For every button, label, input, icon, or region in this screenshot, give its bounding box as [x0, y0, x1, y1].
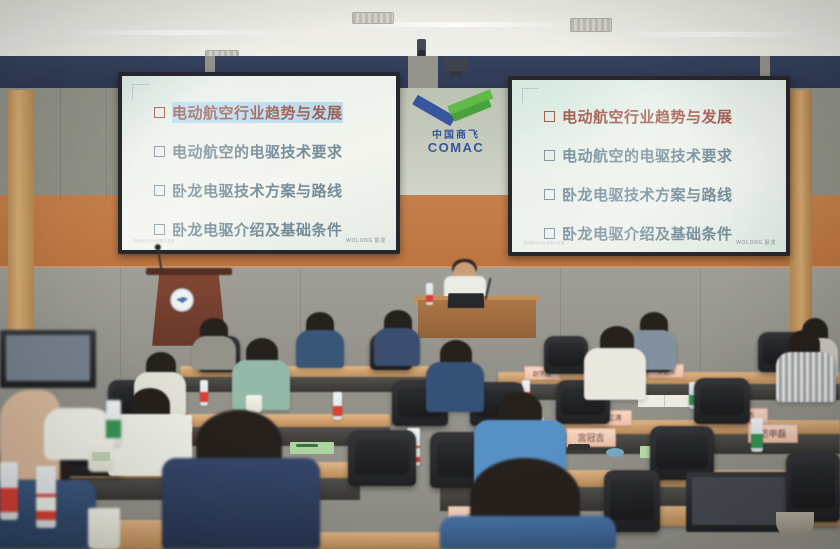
- slide-bullet-item: 电动航空行业趋势与发展: [544, 106, 786, 127]
- slide-bullet-item: 电动航空的电驱技术要求: [154, 141, 396, 162]
- ceiling-light-strip: [60, 30, 290, 35]
- water-bottle: [751, 418, 763, 452]
- slide-bullet-text: 卧龙电驱介绍及基础条件: [562, 223, 733, 244]
- slide-bullet-text: 卧龙电驱技术方案与路线: [562, 184, 733, 205]
- attendee: [192, 336, 236, 370]
- chair: [348, 430, 416, 486]
- screenshot-root: 中国商飞 COMAC 电动航空行业趋势与发展 电动航空的电驱技术要求 卧龙电驱技…: [0, 0, 840, 549]
- projection-screen-left: 电动航空行业趋势与发展 电动航空的电驱技术要求 卧龙电驱技术方案与路线 卧龙电驱…: [118, 72, 400, 254]
- checkbox-icon: [544, 111, 555, 122]
- slide-brand-footer: WOLONG 卧龙: [736, 239, 776, 246]
- comac-logo: 中国商飞 COMAC: [410, 90, 502, 162]
- attendee: [776, 352, 836, 402]
- laptop: [0, 330, 96, 388]
- checkbox-icon: [544, 150, 555, 161]
- attendee: [296, 330, 344, 368]
- mouse: [606, 448, 624, 457]
- wall-panel-seam: [120, 268, 121, 378]
- slide-bullet-item: 卧龙电驱技术方案与路线: [544, 184, 786, 205]
- slide-bullet-text: 电动航空的电驱技术要求: [562, 145, 733, 166]
- slide-corner-mark: [522, 88, 539, 103]
- pen: [296, 444, 318, 447]
- comac-logo-cn: 中国商飞: [410, 126, 502, 141]
- ceiling-vent: [352, 12, 394, 24]
- nameplate-label: 范申磊: [759, 427, 786, 440]
- chair: [694, 378, 750, 424]
- wall-panel-seam: [60, 88, 61, 200]
- wall-trim: [0, 266, 840, 268]
- slide-bullet-item: 卧龙电驱技术方案与路线: [154, 180, 396, 201]
- chair: [544, 336, 588, 374]
- projection-screen-right: 电动航空行业趋势与发展 电动航空的电驱技术要求 卧龙电驱技术方案与路线 卧龙电驱…: [508, 76, 790, 256]
- checkbox-icon: [544, 228, 555, 239]
- water-bottle: [36, 466, 56, 528]
- slide-bullet-text: 卧龙电驱介绍及基础条件: [172, 219, 343, 240]
- slide-bullet-text: 卧龙电驱技术方案与路线: [172, 180, 343, 201]
- checkbox-icon: [154, 224, 165, 235]
- slide-brand-footer: WOLONG 卧龙: [346, 237, 386, 244]
- attendee-foreground: [440, 516, 616, 549]
- water-bottle: [333, 392, 342, 420]
- slide-bullet-list-left: 电动航空行业趋势与发展 电动航空的电驱技术要求 卧龙电驱技术方案与路线 卧龙电驱…: [122, 102, 396, 240]
- slide-bullet-item: 电动航空的电驱技术要求: [544, 145, 786, 166]
- ceramic-bowl: [776, 512, 814, 538]
- ceiling-light-strip: [620, 32, 810, 37]
- water-bottle: [0, 462, 18, 520]
- wall-pillar-gap: [408, 56, 438, 90]
- notebook-spine: [664, 395, 665, 407]
- slide-bullet-text: 电动航空行业趋势与发展: [562, 106, 733, 127]
- slide-footer-note: 电动航空行业趋势与发展: [134, 238, 175, 243]
- wall-panel-seam: [106, 88, 107, 200]
- water-bottle: [426, 283, 433, 305]
- slide-bullet-text: 电动航空行业趋势与发展: [172, 102, 343, 123]
- attendee: [374, 328, 420, 366]
- projector-icon: [444, 58, 468, 72]
- cup-pattern: [92, 452, 110, 461]
- paper-cup: [88, 508, 120, 549]
- slide-bullet-item: 电动航空行业趋势与发展: [154, 102, 396, 123]
- slide-footer-note: 电动航空行业趋势与发展: [524, 240, 565, 245]
- phone: [568, 444, 590, 450]
- attendee: [426, 362, 484, 412]
- presenter-laptop: [448, 293, 485, 308]
- checkbox-icon: [154, 146, 165, 157]
- attendee-foreground: [162, 458, 320, 549]
- podium-top: [146, 268, 232, 275]
- wall-panel-seam: [700, 268, 701, 378]
- slide-corner-mark: [132, 84, 149, 99]
- checkbox-icon: [544, 189, 555, 200]
- comac-logo-en: COMAC: [410, 140, 502, 155]
- water-bottle: [200, 380, 208, 406]
- slide-bullet-text: 电动航空的电驱技术要求: [172, 141, 343, 162]
- podium-emblem: [170, 288, 194, 312]
- slide-bullet-list-right: 电动航空行业趋势与发展 电动航空的电驱技术要求 卧龙电驱技术方案与路线 卧龙电驱…: [512, 106, 786, 244]
- open-notebook: [638, 395, 692, 407]
- checkbox-icon: [154, 185, 165, 196]
- nameplate-label: 宫冠吉: [577, 431, 604, 444]
- comac-mark-icon: [413, 90, 499, 124]
- attendee: [584, 348, 646, 400]
- ceiling-vent: [570, 18, 612, 32]
- checkbox-icon: [154, 107, 165, 118]
